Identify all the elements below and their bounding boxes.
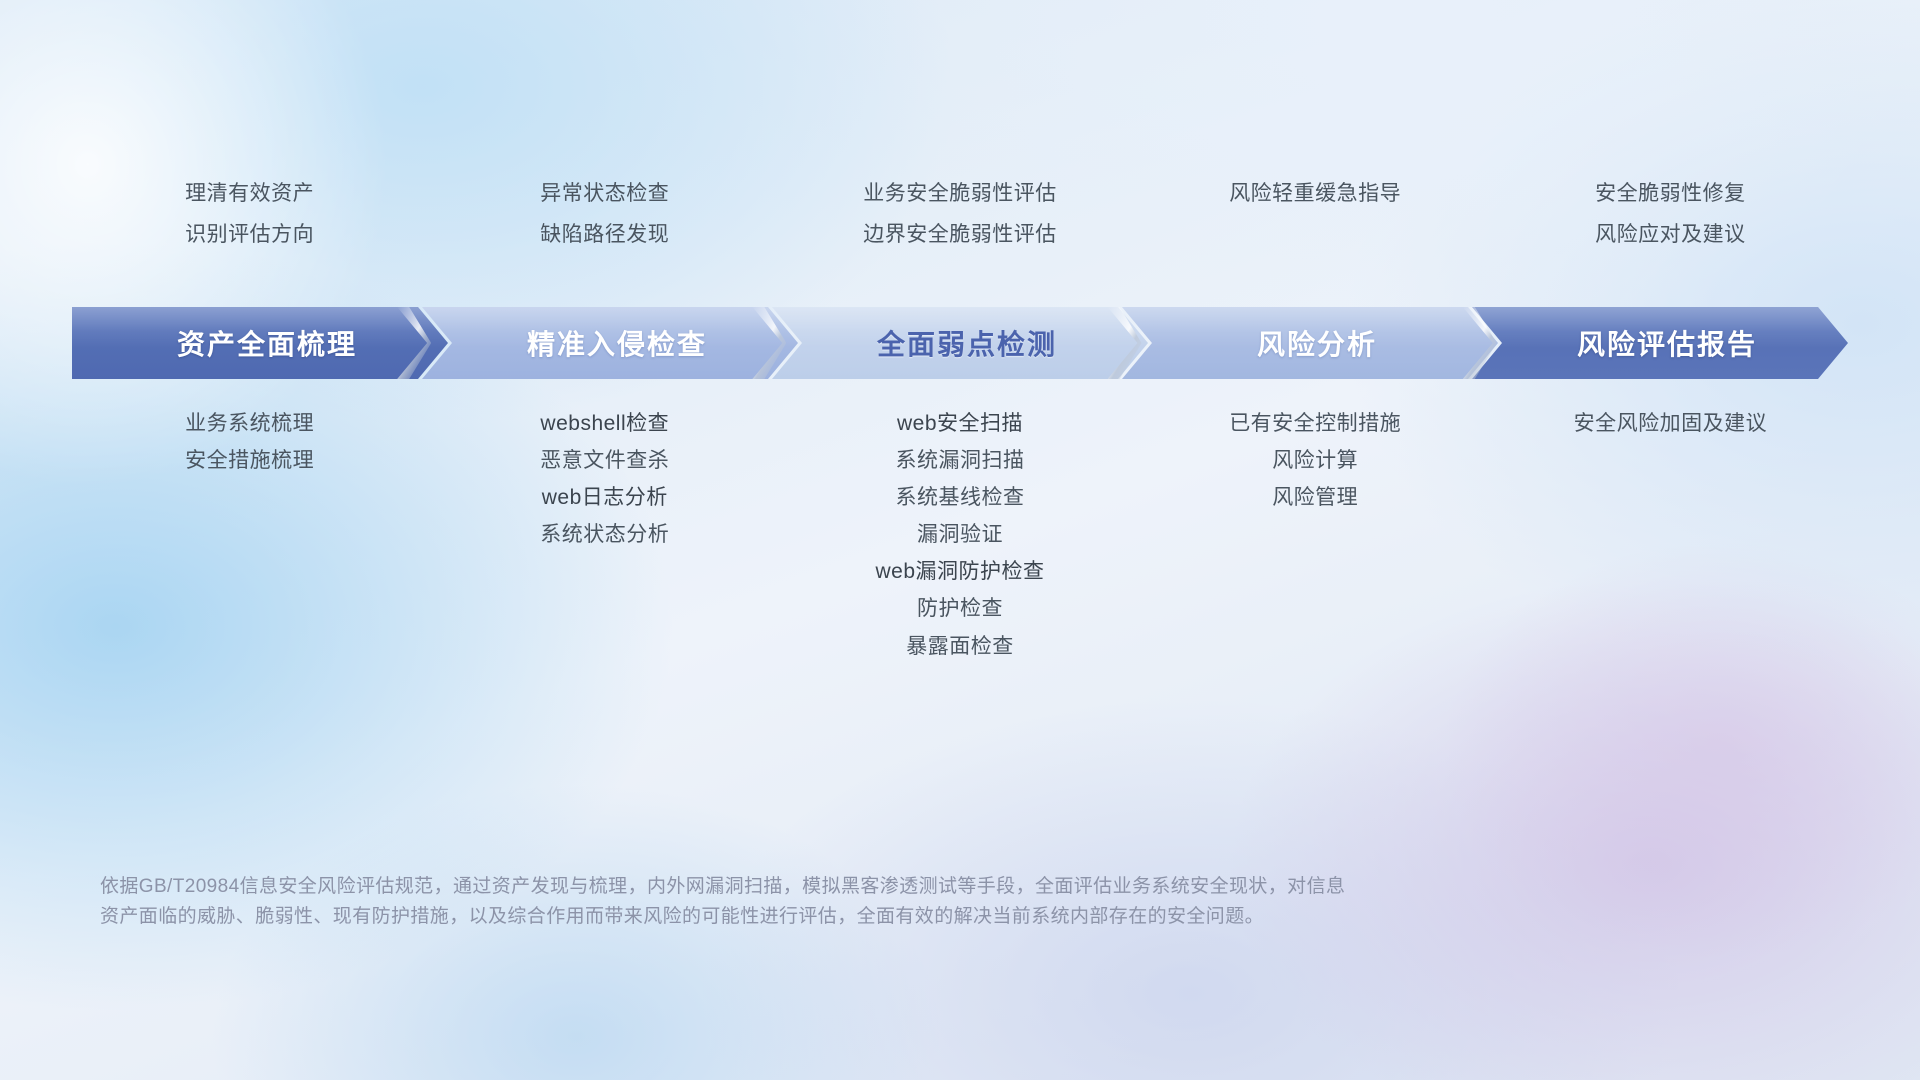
output-item: 已有安全控制措施 (1229, 412, 1401, 435)
stage-inputs-asset-inventory: 理清有效资产 识别评估方向 (72, 182, 427, 246)
stage-inputs-risk-analysis: 风险轻重缓急指导 (1138, 182, 1493, 246)
stage-label: 风险分析 (1243, 323, 1377, 363)
output-item: 业务系统梳理 (185, 412, 314, 435)
diagram-canvas: 理清有效资产 识别评估方向 异常状态检查 缺陷路径发现 业务安全脆弱性评估 边界… (0, 0, 1920, 1080)
output-item: 系统基线检查 (895, 486, 1024, 509)
stage-inputs-weakness-detection: 业务安全脆弱性评估 边界安全脆弱性评估 (782, 182, 1137, 246)
input-item: 业务安全脆弱性评估 (863, 182, 1057, 205)
input-item: 理清有效资产 (185, 182, 314, 205)
output-item: 暴露面检查 (906, 635, 1014, 658)
output-item: web日志分析 (542, 486, 668, 509)
input-item: 缺陷路径发现 (540, 223, 669, 246)
stage-chevron-asset-inventory[interactable]: 资产全面梳理 (72, 307, 448, 379)
output-item: 风险管理 (1272, 486, 1358, 509)
inputs-row: 理清有效资产 识别评估方向 异常状态检查 缺陷路径发现 业务安全脆弱性评估 边界… (72, 182, 1848, 246)
output-item: 系统状态分析 (540, 523, 669, 546)
stage-chevron-risk-analysis[interactable]: 风险分析 (1122, 307, 1498, 379)
stage-chevron-assessment-report[interactable]: 风险评估报告 (1472, 307, 1848, 379)
outputs-row: 业务系统梳理 安全措施梳理 webshell检查 恶意文件查杀 web日志分析 … (72, 412, 1848, 658)
stage-outputs-assessment-report: 安全风险加固及建议 (1493, 412, 1848, 658)
input-item: 边界安全脆弱性评估 (863, 223, 1057, 246)
output-item: webshell检查 (540, 412, 669, 435)
stage-outputs-intrusion-check: webshell检查 恶意文件查杀 web日志分析 系统状态分析 (427, 412, 782, 658)
stage-inputs-intrusion-check: 异常状态检查 缺陷路径发现 (427, 182, 782, 246)
input-item: 安全脆弱性修复 (1595, 182, 1746, 205)
input-item: 风险轻重缓急指导 (1229, 182, 1401, 205)
output-item: 系统漏洞扫描 (895, 449, 1024, 472)
stage-inputs-assessment-report: 安全脆弱性修复 风险应对及建议 (1493, 182, 1848, 246)
stage-chevron-weakness-detection[interactable]: 全面弱点检测 (772, 307, 1148, 379)
stage-label: 精准入侵检查 (513, 323, 707, 363)
input-item: 异常状态检查 (540, 182, 669, 205)
stage-chevron-intrusion-check[interactable]: 精准入侵检查 (422, 307, 798, 379)
output-item: web漏洞防护检查 (875, 560, 1044, 583)
output-item: 漏洞验证 (917, 523, 1003, 546)
output-item: 安全措施梳理 (185, 449, 314, 472)
input-item: 风险应对及建议 (1595, 223, 1746, 246)
input-item: 识别评估方向 (185, 223, 314, 246)
stage-label: 全面弱点检测 (863, 323, 1057, 363)
stage-label: 资产全面梳理 (163, 323, 357, 363)
output-item: 防护检查 (917, 597, 1003, 620)
stage-label: 风险评估报告 (1563, 323, 1757, 363)
stage-outputs-risk-analysis: 已有安全控制措施 风险计算 风险管理 (1138, 412, 1493, 658)
stage-outputs-asset-inventory: 业务系统梳理 安全措施梳理 (72, 412, 427, 658)
output-item: web安全扫描 (897, 412, 1023, 435)
output-item: 恶意文件查杀 (540, 449, 669, 472)
stage-outputs-weakness-detection: web安全扫描 系统漏洞扫描 系统基线检查 漏洞验证 web漏洞防护检查 防护检… (782, 412, 1137, 658)
footnote-line-2: 资产面临的威胁、脆弱性、现有防护措施，以及综合作用而带来风险的可能性进行评估，全… (100, 902, 1710, 932)
footnote-line-1: 依据GB/T20984信息安全风险评估规范，通过资产发现与梳理，内外网漏洞扫描，… (100, 872, 1710, 902)
output-item: 安全风险加固及建议 (1574, 412, 1768, 435)
output-item: 风险计算 (1272, 449, 1358, 472)
process-banner: 资产全面梳理 精准入侵检查 全面弱点检测 风险分析 风险评估报告 (72, 307, 1848, 379)
footnote: 依据GB/T20984信息安全风险评估规范，通过资产发现与梳理，内外网漏洞扫描，… (100, 872, 1710, 933)
